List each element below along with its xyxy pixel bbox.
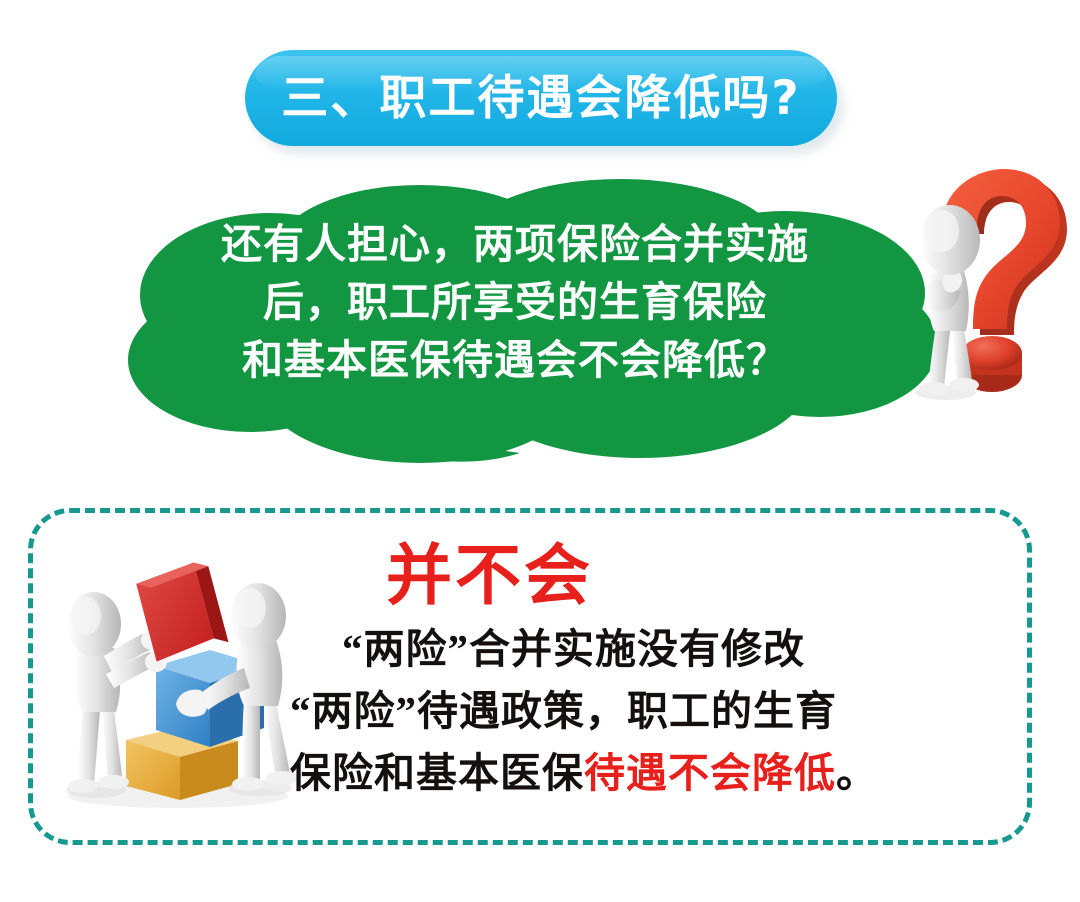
question-bubble-text: 还有人担心，两项保险合并实施 后，职工所享受的生育保险 和基本医保待遇会不会降低… [120,215,910,389]
question-line-2: 后，职工所享受的生育保险 [120,273,910,331]
question-mark-illustration [900,165,1075,400]
answer-body-line-3-tail: 。 [836,750,878,796]
question-mark-icon [900,165,1075,400]
blocks-illustration [48,538,313,818]
section-header-pill: 三、职工待遇会降低吗? [245,50,837,146]
answer-body: “两险”合并实施没有修改 “两险”待遇政策，职工的生育 保险和基本医保待遇不会降… [290,618,990,804]
question-line-3: 和基本医保待遇会不会降低？ [120,331,910,389]
question-line-1: 还有人担心，两项保险合并实施 [120,215,910,273]
answer-body-line-3: 保险和基本医保待遇不会降低。 [290,742,990,804]
answer-text-block: 并不会 “两险”合并实施没有修改 “两险”待遇政策，职工的生育 保险和基本医保待… [290,536,990,804]
page-title: 三、职工待遇会降低吗? [281,75,800,122]
stacking-blocks-icon [48,538,313,818]
answer-body-line-2: “两险”待遇政策，职工的生育 [290,680,990,742]
answer-body-highlight: 待遇不会降低 [584,750,836,796]
answer-body-line-3-black: 保险和基本医保 [290,750,584,796]
answer-headline: 并不会 [386,536,990,616]
question-speech-bubble: 还有人担心，两项保险合并实施 后，职工所享受的生育保险 和基本医保待遇会不会降低… [120,175,940,475]
answer-body-line-1: “两险”合并实施没有修改 [290,618,990,680]
